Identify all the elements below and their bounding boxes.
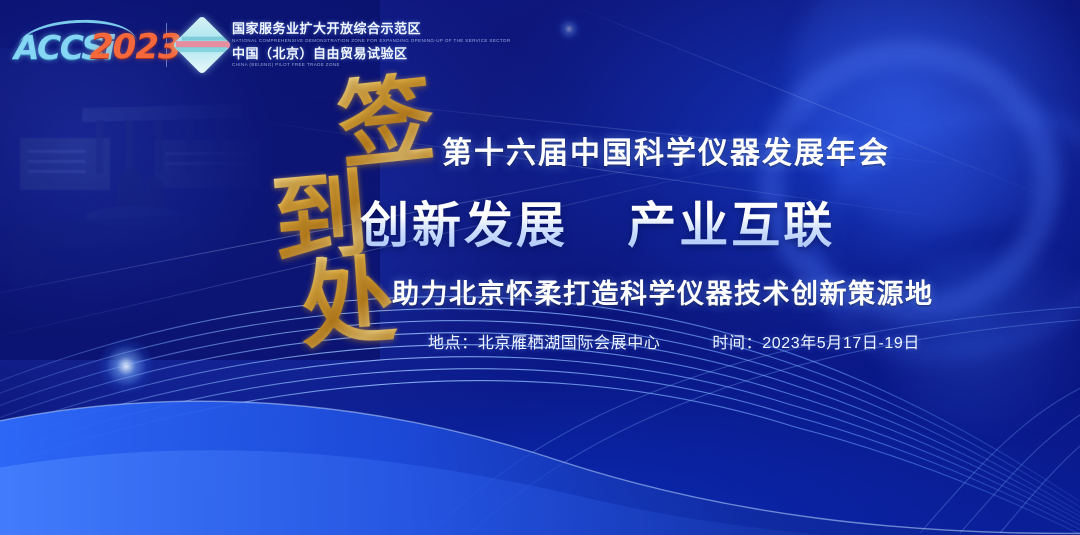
date-text: 时间：2023年5月17日-19日 [712,329,920,353]
zone-text-block: 国家服务业扩大开放综合示范区 NATIONAL COMPREHENSIVE DE… [232,22,510,67]
slogan: 创新发展 产业互联 [360,186,910,257]
signin-char-chu: 处 [297,252,399,354]
conference-banner: ACCSi 2023 国家服务业扩大开放综合示范区 NATIONAL COMPR… [0,0,1080,535]
logo-bar: ACCSi 2023 国家服务业扩大开放综合示范区 NATIONAL COMPR… [14,22,510,68]
accsi-year: 2023 [90,27,181,67]
venue-text: 地点：北京雁栖湖国际会展中心 [428,329,660,353]
subtitle: 助力北京怀柔打造科学仪器技术创新策源地 [392,272,910,311]
headline-block: 第十六届中国科学仪器发展年会 创新发展 产业互联 助力北京怀柔打造科学仪器技术创… [390,128,910,353]
meta-row: 地点：北京雁栖湖国际会展中心 时间：2023年5月17日-19日 [428,329,910,353]
emblem-band [182,37,232,41]
free-trade-zone-logo: 国家服务业扩大开放综合示范区 NATIONAL COMPREHENSIVE DE… [181,22,510,67]
zone-line2-cn: 中国（北京）自由贸易试验区 [232,47,510,61]
diamond-emblem-icon [172,15,231,74]
slogan-part-2: 产业互联 [627,199,835,253]
edition-title: 第十六届中国科学仪器发展年会 [442,128,910,172]
zone-line1-en: NATIONAL COMPREHENSIVE DEMONSTRATION ZON… [232,39,510,44]
emblem-band [172,47,227,52]
slogan-part-1: 创新发展 [360,199,568,253]
zone-line1-cn: 国家服务业扩大开放综合示范区 [232,22,510,36]
accsi-logo: ACCSi 2023 [14,22,152,68]
